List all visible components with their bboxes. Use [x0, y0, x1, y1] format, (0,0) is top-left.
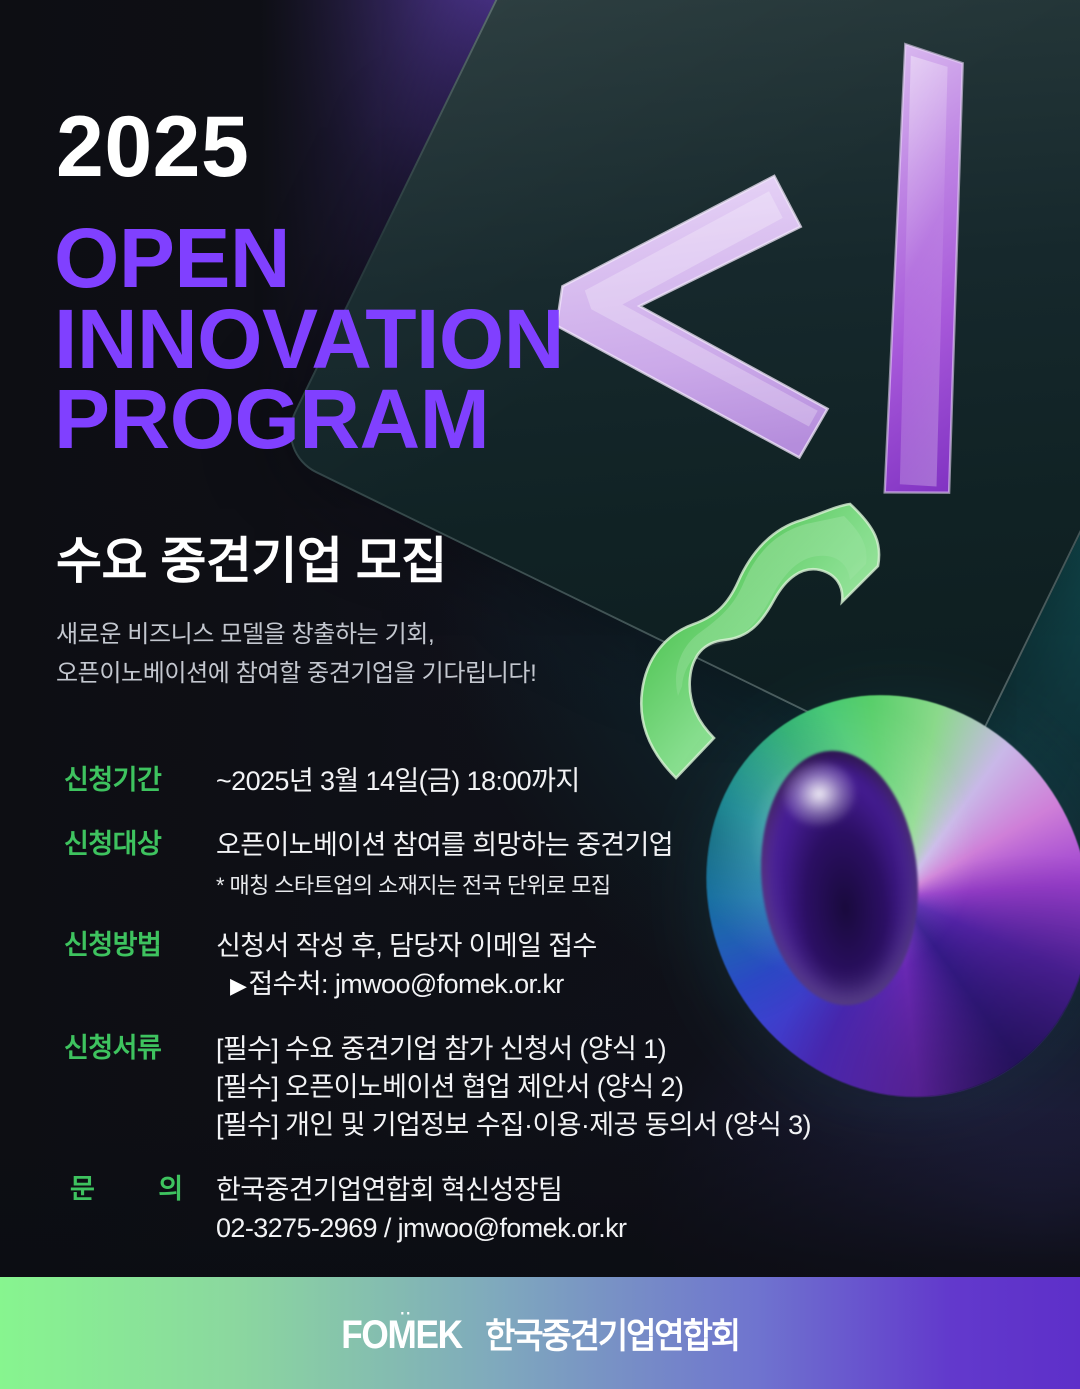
info-row-label: 신청방법: [64, 927, 216, 964]
info-row-values: 오픈이노베이션 참여를 희망하는 중견기업 * 매칭 스타트업의 소재지는 전국…: [216, 826, 964, 901]
info-row-bullet-line: ▶접수처: jmwoo@fomek.or.kr: [216, 965, 964, 1003]
info-row-value: 한국중견기업연합회 혁신성장팀: [216, 1171, 964, 1209]
info-row: 문 의 한국중견기업연합회 혁신성장팀 02-3275-2969 / jmwoo…: [64, 1171, 964, 1248]
logo-umlaut-dots: ··: [400, 1304, 412, 1324]
info-row-label: 신청기간: [64, 762, 216, 799]
korean-subtitle: 수요 중견기업 모집: [56, 534, 447, 589]
info-row-value: [필수] 오픈이노베이션 협업 제안서 (양식 2): [216, 1068, 964, 1106]
info-row-value: [필수] 수요 중견기업 참가 신청서 (양식 1): [216, 1030, 964, 1068]
email-contact: 접수처: jmwoo@fomek.or.kr: [248, 969, 563, 999]
info-row: 신청대상 오픈이노베이션 참여를 희망하는 중견기업 * 매칭 스타트업의 소재…: [64, 826, 964, 901]
info-row-label: 신청서류: [64, 1030, 216, 1067]
poster-canvas: 2025 OPEN INNOVATION PROGRAM 수요 중견기업 모집 …: [0, 0, 1080, 1389]
info-row-value: 오픈이노베이션 참여를 희망하는 중견기업: [216, 826, 964, 864]
info-row-value: ~2025년 3월 14일(금) 18:00까지: [216, 762, 964, 800]
info-row-values: [필수] 수요 중견기업 참가 신청서 (양식 1) [필수] 오픈이노베이션 …: [216, 1030, 964, 1145]
year-label: 2025: [56, 104, 249, 190]
info-row: 신청기간 ~2025년 3월 14일(금) 18:00까지: [64, 762, 964, 800]
info-row-value: 02-3275-2969 / jmwoo@fomek.or.kr: [216, 1209, 964, 1247]
headline-title: OPEN INNOVATION PROGRAM: [54, 218, 564, 460]
info-row-note: * 매칭 스타트업의 소재지는 전국 단위로 모집: [216, 870, 964, 901]
headline-line-3: PROGRAM: [54, 379, 564, 460]
info-row-value: [필수] 개인 및 기업정보 수집·이용·제공 동의서 (양식 3): [216, 1106, 964, 1144]
korean-description: 새로운 비즈니스 모델을 창출하는 기회, 오픈이노베이션에 참여할 중견기업을…: [56, 616, 536, 694]
headline-line-1: OPEN: [54, 218, 564, 299]
info-row-values: 한국중견기업연합회 혁신성장팀 02-3275-2969 / jmwoo@fom…: [216, 1171, 964, 1248]
info-row: 신청서류 [필수] 수요 중견기업 참가 신청서 (양식 1) [필수] 오픈이…: [64, 1030, 964, 1145]
fomek-logo: FOMEK ·· 한국중견기업연합회: [333, 1308, 747, 1359]
headline-line-2: INNOVATION: [54, 299, 564, 380]
info-table: 신청기간 ~2025년 3월 14일(금) 18:00까지 신청대상 오픈이노베…: [64, 762, 964, 1261]
logo-wordmark: FOMEK ··: [341, 1313, 462, 1358]
logo-korean-name: 한국중견기업연합회: [485, 1308, 739, 1359]
footer-bar: FOMEK ·· 한국중견기업연합회: [0, 1277, 1080, 1389]
poster-content: 2025 OPEN INNOVATION PROGRAM 수요 중견기업 모집 …: [0, 0, 1080, 1389]
info-row-values: 신청서 작성 후, 담당자 이메일 접수 ▶접수처: jmwoo@fomek.o…: [216, 927, 964, 1004]
info-row: 신청방법 신청서 작성 후, 담당자 이메일 접수 ▶접수처: jmwoo@fo…: [64, 927, 964, 1004]
korean-description-line-1: 새로운 비즈니스 모델을 창출하는 기회,: [56, 616, 536, 655]
info-row-values: ~2025년 3월 14일(금) 18:00까지: [216, 762, 964, 800]
triangle-bullet-icon: ▶: [230, 973, 246, 998]
info-row-label: 신청대상: [64, 826, 216, 863]
info-row-value: 신청서 작성 후, 담당자 이메일 접수: [216, 927, 964, 965]
info-row-label: 문 의: [64, 1171, 216, 1208]
korean-description-line-2: 오픈이노베이션에 참여할 중견기업을 기다립니다!: [56, 655, 536, 694]
